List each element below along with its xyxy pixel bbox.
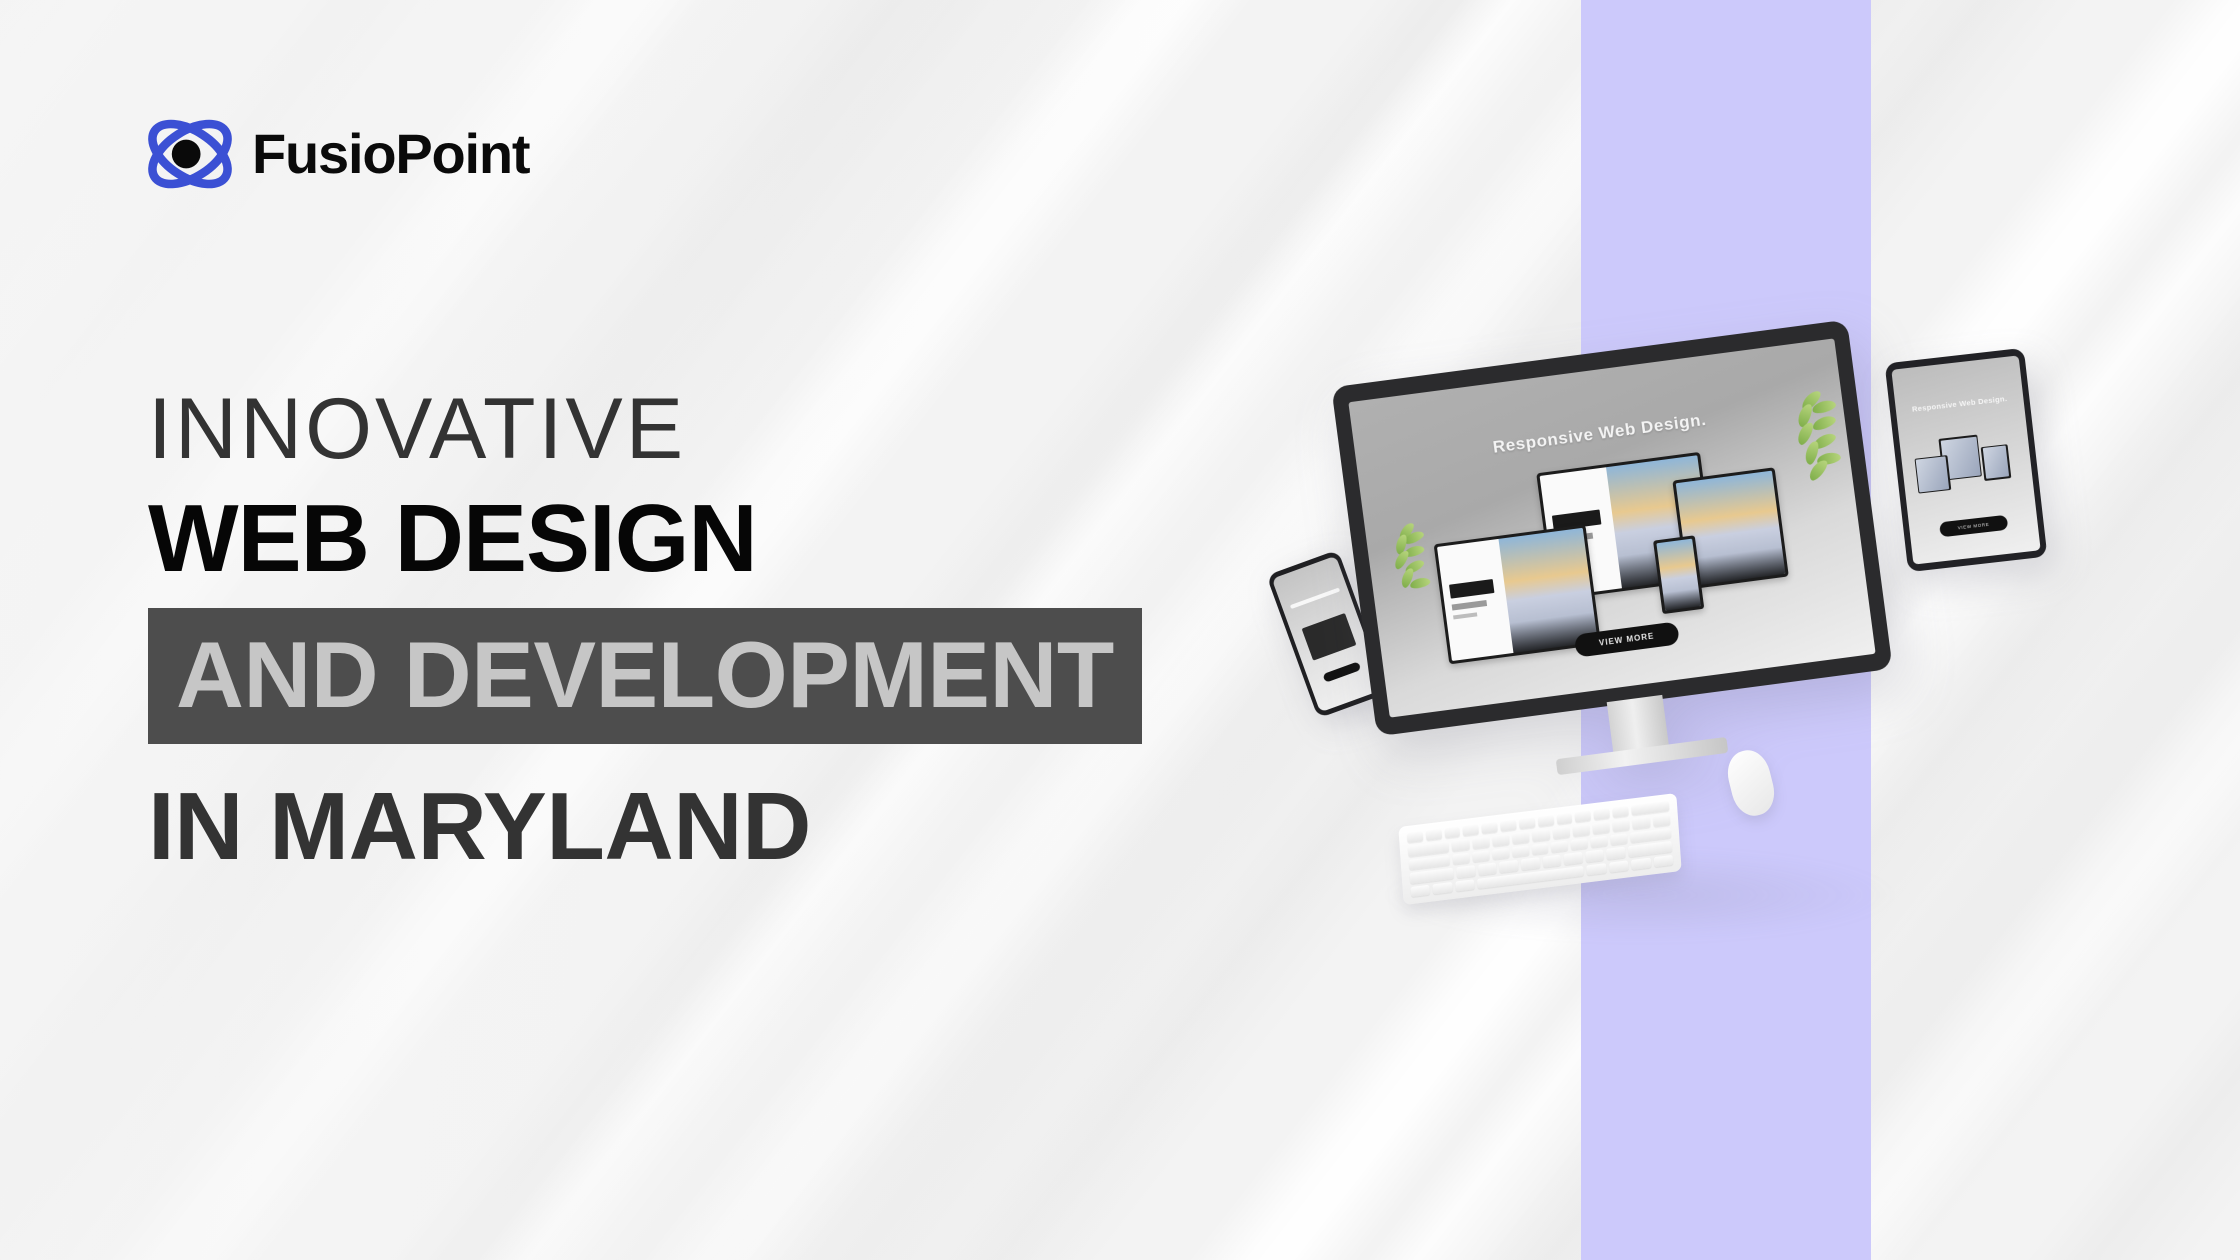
nested-page [1657,538,1702,611]
brand-logo[interactable]: FusioPoint [142,108,529,200]
headline-line-innovative: INNOVATIVE [148,380,1348,478]
phone-screen-thumbnail [1301,613,1356,661]
mouse-mockup [1723,746,1780,820]
tablet-screen-cta-button[interactable]: VIEW MORE [1939,515,2008,538]
tablet-screen: Responsive Web Design. VIEW MORE [1891,355,2040,564]
tablet-screen-title: Responsive Web Design. [1896,392,2024,415]
atom-nucleus [172,140,201,169]
imac-stand-neck [1607,695,1669,752]
phone-screen-cta [1323,662,1362,683]
phone-screen-title [1290,588,1340,609]
headline-line-in-maryland: IN MARYLAND [148,774,1348,880]
device-mockup-cluster: Responsive Web Design. [1300,330,2130,950]
headline-line-web-design: WEB DESIGN [148,486,1348,592]
imac-screen: Responsive Web Design. [1348,338,1875,717]
tablet-nested-cluster [1912,431,2020,497]
tablet-nested-device [1914,455,1951,494]
tablet-mockup: Responsive Web Design. VIEW MORE [1885,348,2048,572]
hero-headline: INNOVATIVE WEB DESIGN AND DEVELOPMENT IN… [148,380,1348,879]
headline-line-and-development: AND DEVELOPMENT [176,628,1114,722]
imac-bezel: Responsive Web Design. [1331,320,1892,737]
tablet-nested-device [1981,444,2011,481]
atom-orbit-icon [142,108,238,200]
nested-page-hero-image [1657,538,1702,611]
hero-banner: FusioPoint INNOVATIVE WEB DESIGN AND DEV… [0,0,2240,1260]
headline-highlight-bar: AND DEVELOPMENT [148,608,1142,744]
brand-logo-text: FusioPoint [252,126,529,182]
nested-page [1437,527,1598,660]
imac-mockup: Responsive Web Design. [1331,320,1892,737]
